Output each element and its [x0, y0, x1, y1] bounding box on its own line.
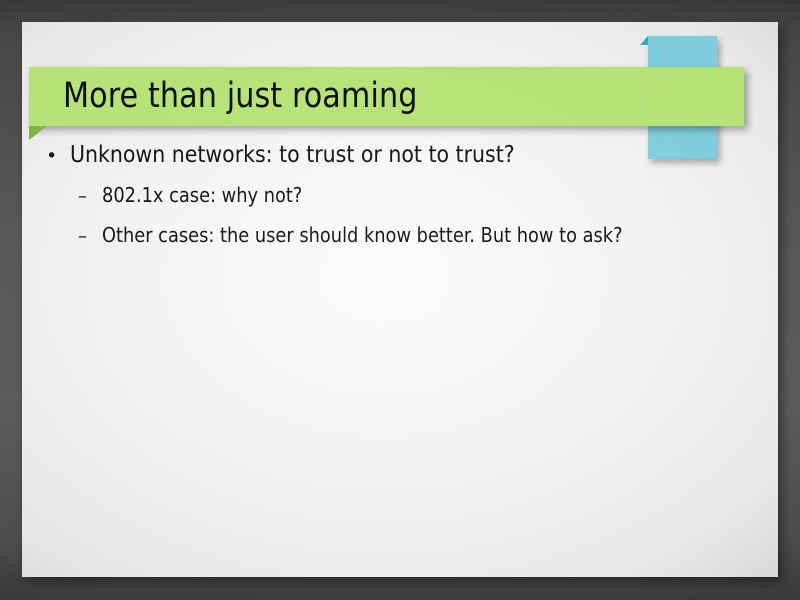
list-item: – Other cases: the user should know bett… [22, 223, 778, 249]
list-item-label: Other cases: the user should know better… [102, 223, 623, 249]
slide-canvas: More than just roaming • Unknown network… [22, 22, 778, 577]
slide-frame: More than just roaming • Unknown network… [0, 0, 800, 600]
list-item-label: Unknown networks: to trust or not to tru… [70, 140, 515, 169]
title-banner-fold-icon [29, 126, 47, 140]
bullet-dot-icon: • [46, 147, 70, 166]
title-banner: More than just roaming [29, 67, 744, 126]
bullet-dash-icon: – [78, 228, 102, 246]
bullet-dash-icon: – [78, 188, 102, 206]
accent-block-fold-icon [640, 36, 648, 45]
list-item: – 802.1x case: why not? [22, 183, 778, 209]
page-title: More than just roaming [63, 79, 418, 114]
list-item: • Unknown networks: to trust or not to t… [22, 140, 778, 169]
slide-body: • Unknown networks: to trust or not to t… [22, 140, 778, 249]
list-item-label: 802.1x case: why not? [102, 183, 302, 209]
